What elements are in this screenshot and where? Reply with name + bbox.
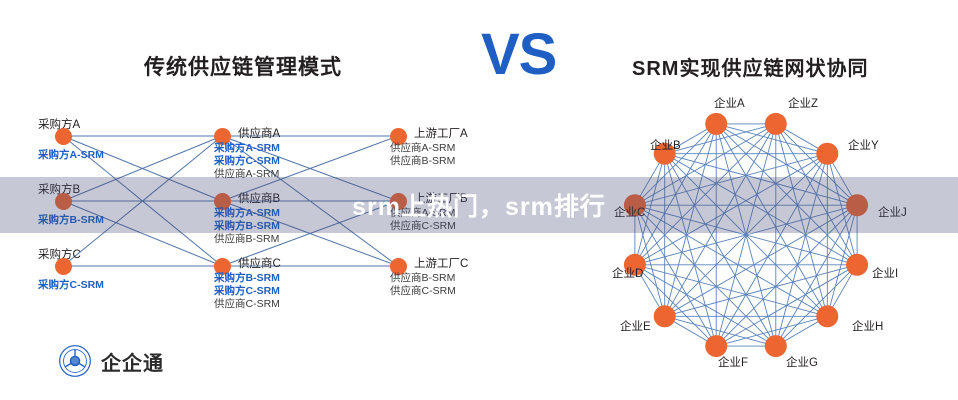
left-diagram-title: 传统供应链管理模式 bbox=[144, 51, 342, 81]
left-sub-label: 采购方A-SRM bbox=[38, 149, 104, 162]
left-sub-label: 采购方C-SRM bbox=[214, 285, 280, 298]
srm-mesh-network-diagram: 企业A 企业Z 企业Y 企业J 企业I 企业H 企业G 企业F 企业E 企业D … bbox=[600, 90, 958, 380]
left-sub-label: 供应商C-SRM bbox=[214, 298, 280, 311]
left-node-labels-buyer-a: 采购方A-SRM bbox=[38, 149, 104, 162]
left-node-dot-buyer-c[interactable] bbox=[55, 258, 72, 275]
network-node-ent-a[interactable] bbox=[765, 113, 787, 135]
network-label-ent-f: 企业F bbox=[718, 354, 748, 370]
network-label-ent-b: 企业B bbox=[650, 137, 681, 153]
left-node-labels-buyer-c: 采购方C-SRM bbox=[38, 279, 104, 292]
left-node-labels-supplier-c: 供应商C bbox=[238, 258, 281, 271]
versus-badge: VS bbox=[481, 26, 556, 84]
network-label-ent-a: 企业A bbox=[714, 95, 745, 111]
left-sub-label: 供应商B-SRM bbox=[390, 155, 455, 168]
network-graph-svg bbox=[600, 90, 958, 380]
left-sub-label: 供应商B-SRM bbox=[390, 272, 456, 285]
network-label-ent-g: 企业G bbox=[786, 354, 818, 370]
watermark-text: srm上热门，srm排行 bbox=[0, 177, 958, 233]
network-node-ent-i[interactable] bbox=[816, 305, 838, 327]
left-node-title-factory-a: 上游工厂A bbox=[414, 128, 468, 141]
network-node-ent-j[interactable] bbox=[846, 254, 868, 276]
network-node-ent-z[interactable] bbox=[816, 143, 838, 165]
brand-logo-text: 企企通 bbox=[101, 347, 164, 376]
circular-logo-icon bbox=[58, 344, 92, 378]
left-sub-label: 采购方C-SRM bbox=[38, 279, 104, 292]
left-node-title-supplier-c: 供应商C bbox=[238, 258, 281, 271]
brand-logo[interactable]: 企企通 bbox=[58, 344, 164, 378]
left-node-labels-factory-a: 上游工厂A bbox=[414, 128, 468, 141]
left-sub-label: 采购方C-SRM bbox=[214, 155, 280, 168]
left-sub-label: 供应商A-SRM bbox=[390, 142, 455, 155]
left-node-title-supplier-a: 供应商A bbox=[238, 128, 280, 141]
left-sub-label: 供应商C-SRM bbox=[390, 285, 456, 298]
left-node-dot-buyer-a[interactable] bbox=[55, 128, 72, 145]
network-label-ent-y: 企业Y bbox=[848, 137, 879, 153]
network-label-ent-d: 企业D bbox=[612, 265, 643, 281]
left-node-subs-supplier-a: 采购方A-SRM 采购方C-SRM 供应商A-SRM bbox=[214, 142, 280, 181]
left-sub-label: 采购方B-SRM bbox=[214, 272, 280, 285]
left-node-subs-factory-c: 供应商B-SRM 供应商C-SRM bbox=[390, 272, 456, 298]
network-label-ent-e: 企业E bbox=[620, 318, 651, 334]
left-sub-label: 采购方A-SRM bbox=[214, 142, 280, 155]
network-node-ent-f[interactable] bbox=[654, 305, 676, 327]
network-label-ent-i: 企业I bbox=[872, 265, 898, 281]
left-node-labels-factory-c: 上游工厂C bbox=[414, 258, 468, 271]
left-node-subs-factory-a: 供应商A-SRM 供应商B-SRM bbox=[390, 142, 455, 168]
left-sub-label: 供应商B-SRM bbox=[214, 233, 280, 246]
network-label-ent-h: 企业H bbox=[852, 318, 883, 334]
network-label-ent-z: 企业Z bbox=[788, 95, 818, 111]
left-node-title-factory-c: 上游工厂C bbox=[414, 258, 468, 271]
network-node-ent-h[interactable] bbox=[765, 335, 787, 357]
left-node-labels-supplier-a: 供应商A bbox=[238, 128, 280, 141]
left-node-subs-supplier-c: 采购方B-SRM 采购方C-SRM 供应商C-SRM bbox=[214, 272, 280, 311]
right-diagram-title: SRM实现供应链网状协同 bbox=[632, 52, 868, 81]
screenshot-canvas: 传统供应链管理模式 VS SRM实现供应链网状协同 bbox=[0, 0, 958, 400]
network-node-ent-b[interactable] bbox=[705, 113, 727, 135]
